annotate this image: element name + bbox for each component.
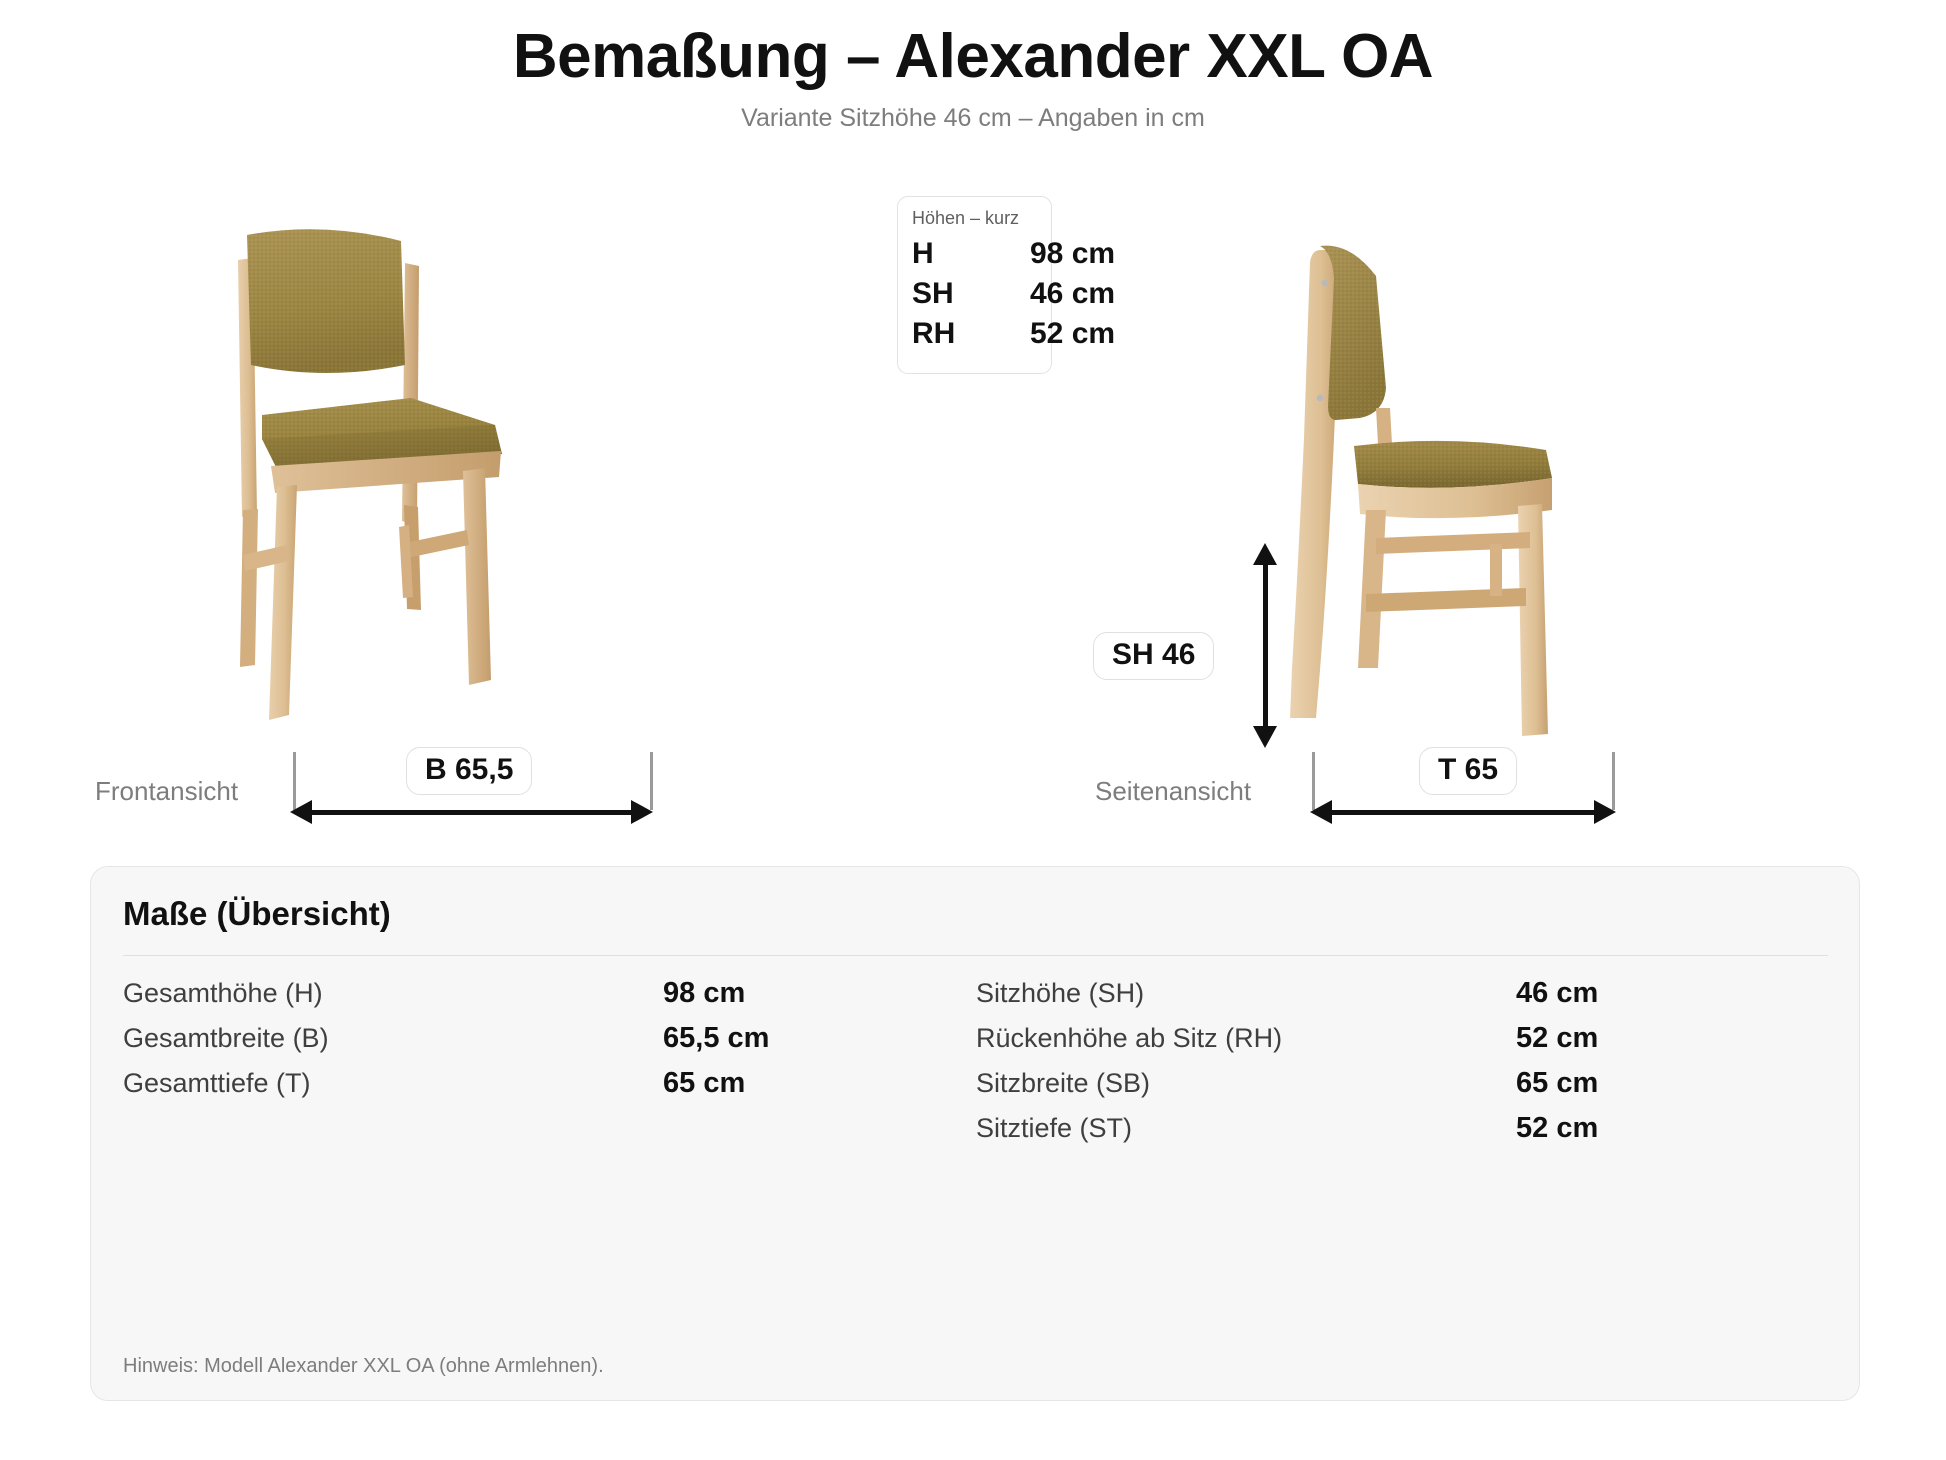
measurements-panel: Maße (Übersicht) Gesamthöhe (H) 98 cm Ge…: [90, 866, 1860, 1401]
arrow-bar: [304, 810, 639, 815]
measurement-row: Sitzhöhe (SH) 46 cm: [976, 977, 1829, 1022]
legend-value-rh: 52 cm: [1030, 317, 1115, 351]
measurement-row: Sitzbreite (SB) 65 cm: [976, 1067, 1829, 1112]
page-title: Bemaßung – Alexander XXL OA: [0, 24, 1946, 89]
measurements-panel-title: Maße (Übersicht): [123, 895, 391, 933]
measurements-panel-note: Hinweis: Modell Alexander XXL OA (ohne A…: [123, 1355, 604, 1378]
chair-side-view-illustration: [1290, 238, 1590, 748]
measurement-value: 65 cm: [663, 1067, 745, 1100]
arrow-bar: [1324, 810, 1602, 815]
legend-rows: H 98 cm SH 46 cm RH 52 cm: [912, 237, 1212, 357]
side-depth-badge: T 65: [1419, 747, 1517, 795]
chair-leg-rear-left: [240, 509, 258, 667]
measurements-columns: Gesamthöhe (H) 98 cm Gesamtbreite (B) 65…: [123, 977, 1829, 1157]
chair-screw-lower-icon: [1317, 395, 1324, 402]
measurement-row: Gesamttiefe (T) 65 cm: [123, 1067, 976, 1112]
legend-value-sh: 46 cm: [1030, 277, 1115, 311]
seat-height-badge: SH 46: [1093, 632, 1214, 680]
chair-front-view-illustration: [205, 225, 535, 745]
chair-back-post-right: [402, 263, 419, 525]
legend-key-h: H: [912, 237, 1030, 271]
chair-brace-vertical-side: [1490, 544, 1502, 596]
measurement-label: Sitzhöhe (SH): [976, 978, 1516, 1009]
legend-key-sh: SH: [912, 277, 1030, 311]
measurement-label: Gesamttiefe (T): [123, 1068, 663, 1099]
legend-title: Höhen – kurz: [912, 208, 1019, 229]
chair-leg-front-left: [269, 485, 297, 720]
seat-height-dimension-arrow: [1253, 543, 1277, 748]
arrowhead-right-icon: [631, 800, 653, 824]
measurement-row: Gesamthöhe (H) 98 cm: [123, 977, 976, 1022]
height-legend-box: Höhen – kurz H 98 cm SH 46 cm RH 52 cm: [897, 196, 1052, 374]
arrow-bar: [1263, 556, 1268, 735]
legend-value-h: 98 cm: [1030, 237, 1115, 271]
measurement-row: Gesamtbreite (B) 65,5 cm: [123, 1022, 976, 1067]
measurements-column-right: Sitzhöhe (SH) 46 cm Rückenhöhe ab Sitz (…: [976, 977, 1829, 1157]
measurements-panel-divider: [123, 955, 1828, 956]
legend-row: SH 46 cm: [912, 277, 1212, 317]
measurement-value: 98 cm: [663, 977, 745, 1010]
measurement-label: Gesamthöhe (H): [123, 978, 663, 1009]
page-subtitle: Variante Sitzhöhe 46 cm – Angaben in cm: [0, 103, 1946, 133]
front-view-label: Frontansicht: [95, 776, 238, 807]
measurement-label: Gesamtbreite (B): [123, 1023, 663, 1054]
side-depth-dimension-arrow: [1310, 800, 1616, 824]
legend-row: H 98 cm: [912, 237, 1212, 277]
measurement-value: 46 cm: [1516, 977, 1598, 1010]
page-header: Bemaßung – Alexander XXL OA Variante Sit…: [0, 24, 1946, 133]
measurement-value: 65,5 cm: [663, 1022, 769, 1055]
measurement-value: 52 cm: [1516, 1022, 1598, 1055]
measurement-row: Sitztiefe (ST) 52 cm: [976, 1112, 1829, 1157]
measurement-label: Sitztiefe (ST): [976, 1113, 1516, 1144]
measurements-column-left: Gesamthöhe (H) 98 cm Gesamtbreite (B) 65…: [123, 977, 976, 1157]
legend-key-rh: RH: [912, 317, 1030, 351]
side-view-label: Seitenansicht: [1095, 776, 1251, 807]
measurement-row: Rückenhöhe ab Sitz (RH) 52 cm: [976, 1022, 1829, 1067]
legend-row: RH 52 cm: [912, 317, 1212, 357]
chair-seat-texture-side: [1354, 441, 1552, 488]
chair-leg-rear-side: [1358, 510, 1386, 668]
chair-stretcher-upper-side: [1376, 532, 1530, 554]
measurement-value: 65 cm: [1516, 1067, 1598, 1100]
front-width-badge: B 65,5: [406, 747, 532, 795]
measurement-value: 52 cm: [1516, 1112, 1598, 1145]
measurement-label: Rückenhöhe ab Sitz (RH): [976, 1023, 1516, 1054]
chair-backrest-bracket: [1376, 408, 1392, 444]
chair-backrest-texture: [247, 229, 405, 373]
arrowhead-bottom-icon: [1253, 726, 1277, 748]
chair-leg-front-right: [463, 468, 491, 685]
measurement-label: Sitzbreite (SB): [976, 1068, 1516, 1099]
chair-screw-upper-icon: [1322, 280, 1329, 287]
arrowhead-right-icon: [1594, 800, 1616, 824]
front-width-dimension-arrow: [290, 800, 653, 824]
